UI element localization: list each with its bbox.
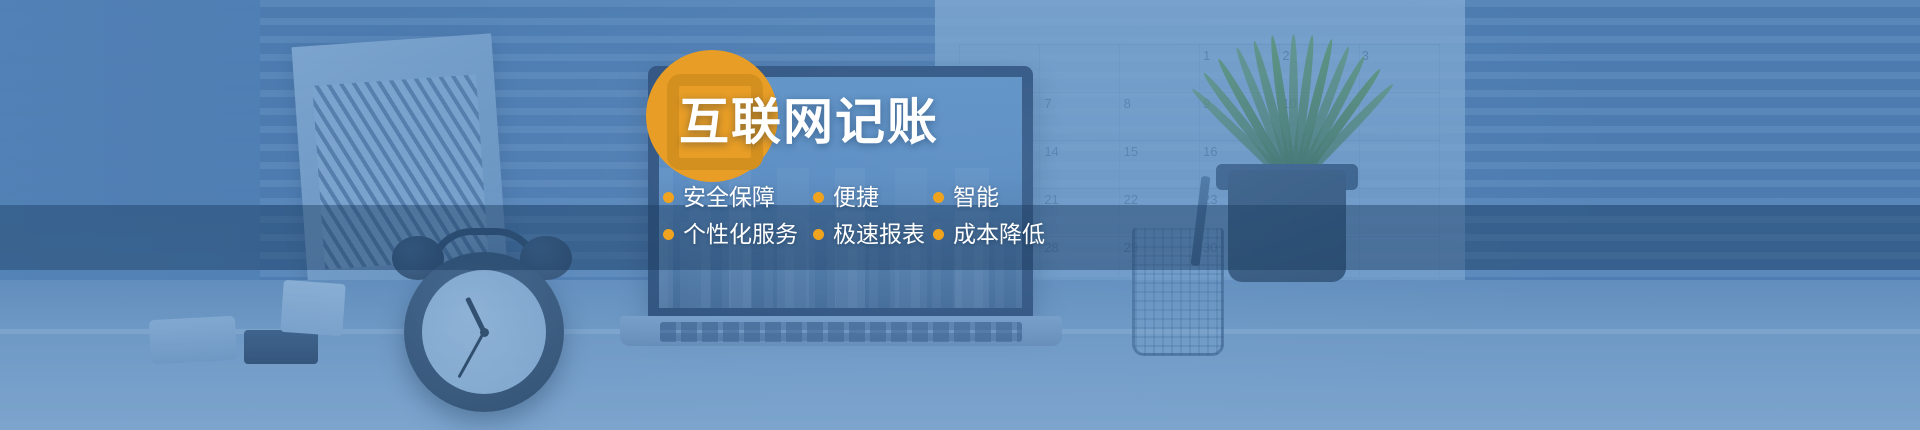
feature-label: 智能: [953, 186, 999, 209]
feature-item[interactable]: 个性化服务: [663, 223, 813, 246]
feature-label: 极速报表: [833, 223, 925, 246]
bullet-dot-icon: [933, 192, 944, 203]
bullet-dot-icon: [813, 229, 824, 240]
feature-label: 便捷: [833, 186, 879, 209]
feature-row: 安全保障便捷智能: [663, 186, 1033, 209]
feature-list: 安全保障便捷智能个性化服务极速报表成本降低: [663, 186, 1033, 246]
banner-title: 互联网记账: [679, 97, 939, 147]
feature-label: 成本降低: [953, 223, 1045, 246]
bullet-dot-icon: [813, 192, 824, 203]
feature-item[interactable]: 智能: [933, 186, 1033, 209]
banner-content: 互联网记账 安全保障便捷智能个性化服务极速报表成本降低: [0, 0, 1920, 430]
promo-banner: 123678910131415161720212223242728293031: [0, 0, 1920, 430]
feature-item[interactable]: 极速报表: [813, 223, 933, 246]
feature-label: 个性化服务: [683, 223, 798, 246]
feature-item[interactable]: 成本降低: [933, 223, 1033, 246]
bullet-dot-icon: [663, 229, 674, 240]
bullet-dot-icon: [933, 229, 944, 240]
feature-item[interactable]: 安全保障: [663, 186, 813, 209]
feature-row: 个性化服务极速报表成本降低: [663, 223, 1033, 246]
bullet-dot-icon: [663, 192, 674, 203]
feature-item[interactable]: 便捷: [813, 186, 933, 209]
feature-label: 安全保障: [683, 186, 775, 209]
